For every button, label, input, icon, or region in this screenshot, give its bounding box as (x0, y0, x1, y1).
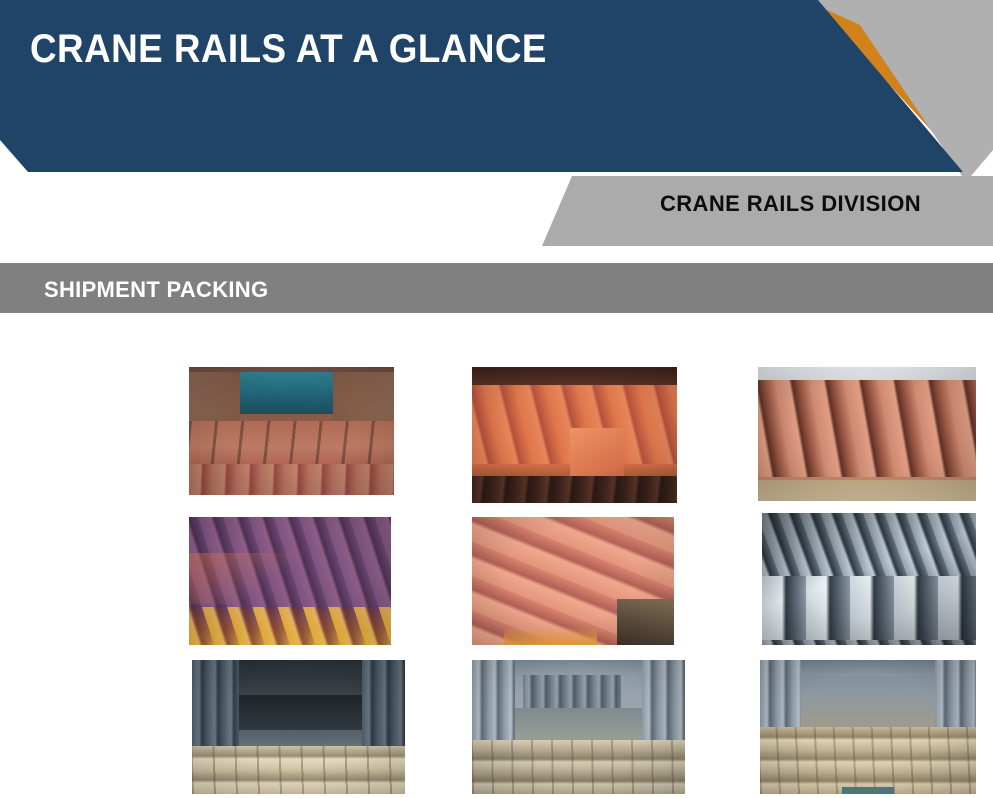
gallery-photo-3[interactable] (758, 367, 976, 501)
division-label: CRANE RAILS DIVISION (660, 191, 921, 217)
photo-gallery (0, 313, 993, 798)
section-title: SHIPMENT PACKING (44, 277, 268, 303)
page-title: CRANE RAILS AT A GLANCE (30, 28, 729, 70)
gallery-photo-4[interactable] (189, 517, 391, 645)
gallery-photo-1[interactable] (189, 367, 394, 495)
gallery-photo-7[interactable] (192, 660, 405, 794)
gallery-photo-2[interactable] (472, 367, 677, 503)
gallery-photo-5[interactable] (472, 517, 674, 645)
gallery-photo-9[interactable] (760, 660, 976, 794)
gallery-photo-6[interactable] (762, 513, 976, 645)
gallery-photo-8[interactable] (472, 660, 685, 794)
